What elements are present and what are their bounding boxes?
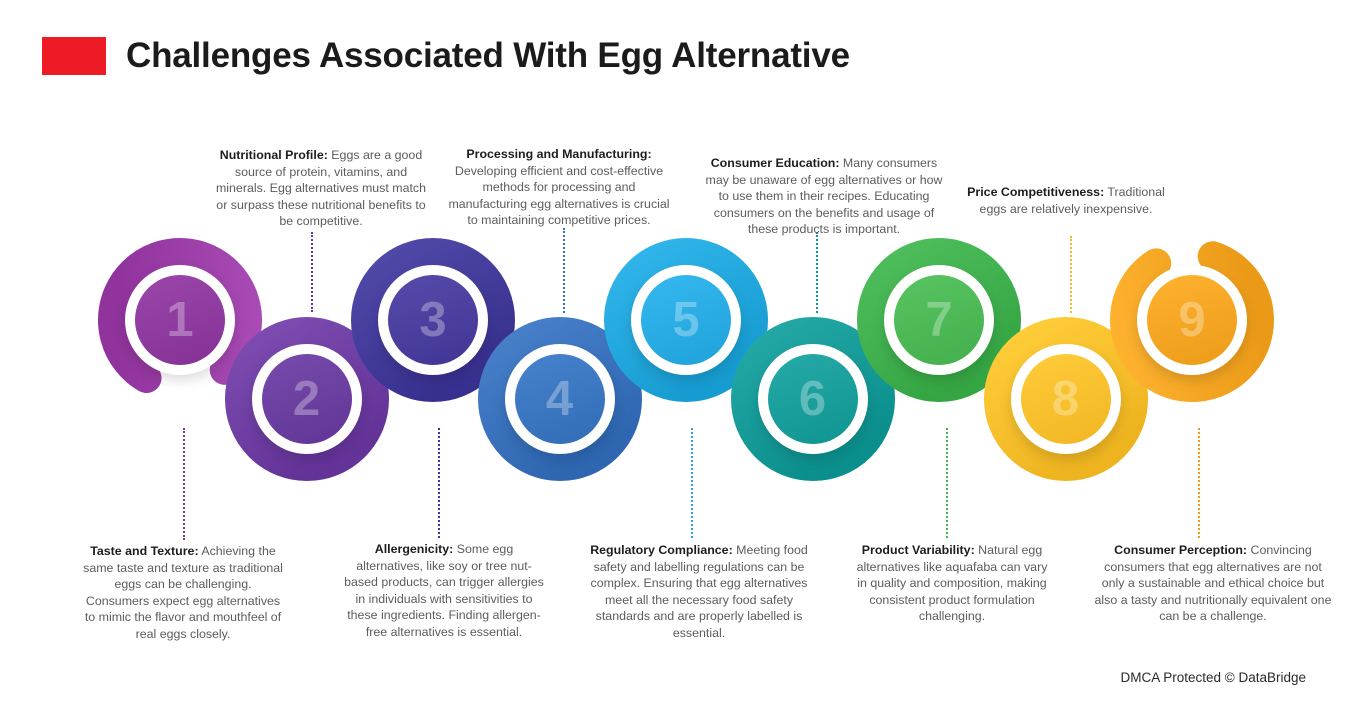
step-number-6: 6 xyxy=(799,375,826,424)
connector-line-4 xyxy=(563,228,565,313)
footer-credit: DMCA Protected © DataBridge xyxy=(1120,670,1306,685)
step-disc-4[interactable]: 4 xyxy=(515,354,605,444)
step-number-8: 8 xyxy=(1052,375,1079,424)
callout-lead-6: Consumer Education: xyxy=(711,156,840,170)
callout-body-1: Achieving the same taste and texture as … xyxy=(83,544,283,641)
callout-lead-5: Regulatory Compliance: xyxy=(590,543,733,557)
step-number-2: 2 xyxy=(293,375,320,424)
connector-line-3 xyxy=(438,428,440,538)
callout-1: Taste and Texture: Achieving the same ta… xyxy=(83,543,283,642)
step-disc-6[interactable]: 6 xyxy=(768,354,858,444)
callout-lead-3: Allergenicity: xyxy=(375,542,454,556)
callout-5: Regulatory Compliance: Meeting food safe… xyxy=(589,542,809,641)
callout-lead-1: Taste and Texture: xyxy=(90,544,198,558)
callout-2: Nutritional Profile: Eggs are a good sou… xyxy=(212,147,430,230)
callout-body-4: Developing efficient and cost-effective … xyxy=(448,164,669,228)
step-number-5: 5 xyxy=(672,296,699,345)
step-number-4: 4 xyxy=(546,375,573,424)
step-number-9: 9 xyxy=(1178,296,1205,345)
callout-3: Allergenicity: Some egg alternatives, li… xyxy=(343,541,545,640)
callout-lead-8: Price Competitiveness: xyxy=(967,185,1104,199)
callout-lead-9: Consumer Perception: xyxy=(1114,543,1247,557)
step-number-1: 1 xyxy=(166,296,193,345)
connector-line-2 xyxy=(311,232,313,312)
connector-line-8 xyxy=(1070,236,1072,313)
connector-line-1 xyxy=(183,428,185,540)
connector-line-9 xyxy=(1198,428,1200,538)
callout-body-3: Some egg alternatives, like soy or tree … xyxy=(344,542,544,639)
step-disc-9[interactable]: 9 xyxy=(1147,275,1237,365)
step-disc-1[interactable]: 1 xyxy=(135,275,225,365)
callout-lead-7: Product Variability: xyxy=(862,543,975,557)
callout-9: Consumer Perception: Convincing consumer… xyxy=(1094,542,1332,625)
callout-body-5: Meeting food safety and labelling regula… xyxy=(591,543,808,640)
callout-lead-4: Processing and Manufacturing: xyxy=(466,147,651,161)
page-title: Challenges Associated With Egg Alternati… xyxy=(126,36,850,76)
callout-lead-2: Nutritional Profile: xyxy=(220,148,328,162)
step-number-3: 3 xyxy=(419,296,446,345)
callout-8: Price Competitiveness: Traditional eggs … xyxy=(966,184,1166,217)
step-disc-7[interactable]: 7 xyxy=(894,275,984,365)
callout-7: Product Variability: Natural egg alterna… xyxy=(852,542,1052,625)
brand-mark-icon xyxy=(42,37,106,75)
callout-4: Processing and Manufacturing: Developing… xyxy=(445,146,673,229)
step-disc-5[interactable]: 5 xyxy=(641,275,731,365)
connector-line-5 xyxy=(691,428,693,538)
step-number-7: 7 xyxy=(925,296,952,345)
step-disc-8[interactable]: 8 xyxy=(1021,354,1111,444)
step-disc-3[interactable]: 3 xyxy=(388,275,478,365)
infographic-canvas: Challenges Associated With Egg Alternati… xyxy=(0,0,1366,703)
connector-line-6 xyxy=(816,232,818,313)
connector-line-7 xyxy=(946,428,948,538)
callout-6: Consumer Education: Many consumers may b… xyxy=(699,155,949,238)
step-disc-2[interactable]: 2 xyxy=(262,354,352,444)
page-header: Challenges Associated With Egg Alternati… xyxy=(42,36,850,76)
